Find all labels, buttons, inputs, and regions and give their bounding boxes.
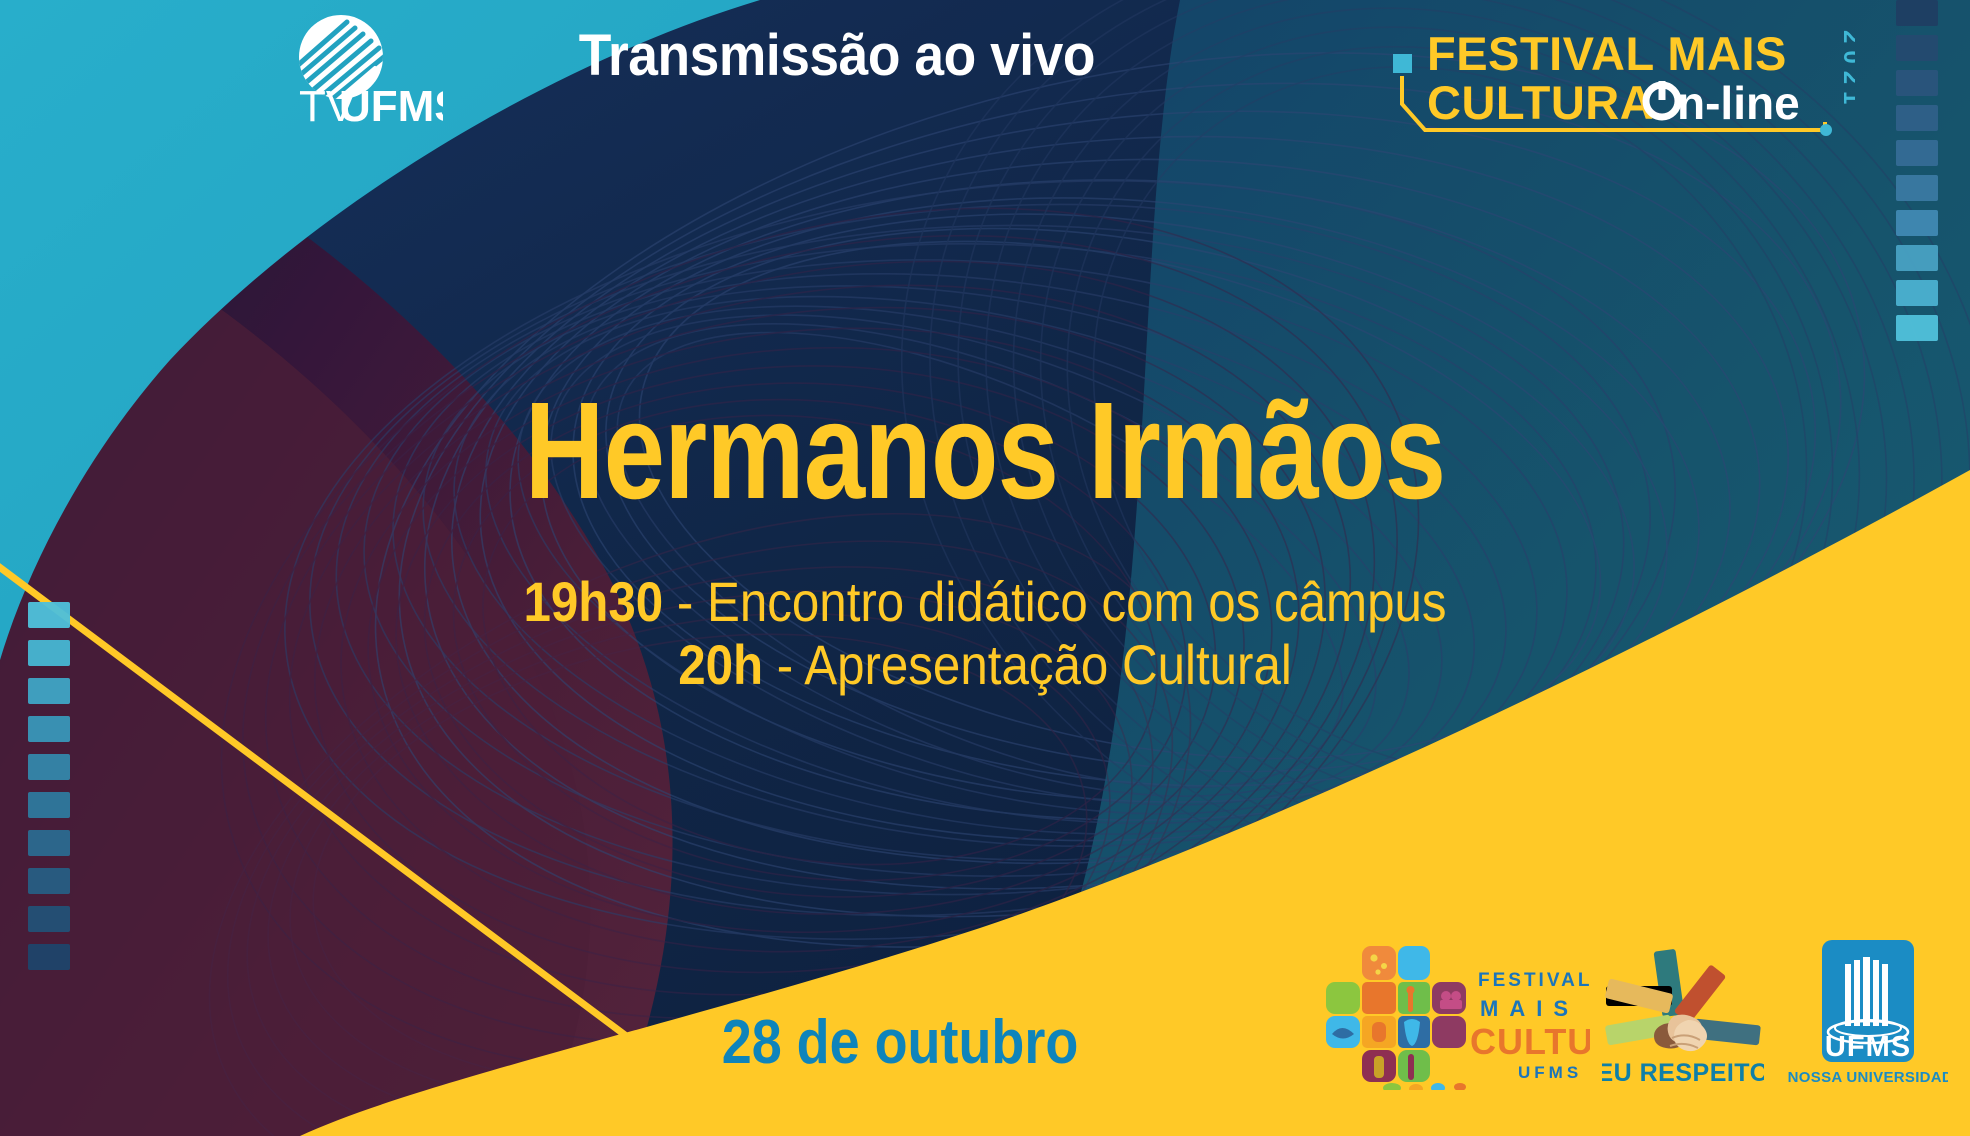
eu-respeito-logo: EU RESPEITO	[1602, 938, 1764, 1090]
joined-hands-icon	[1605, 949, 1761, 1051]
poster-foreground: TV UFMS Transmissão ao vivo FESTIVAL MAI…	[0, 0, 1970, 1136]
lockup-year: 2021	[1838, 30, 1855, 111]
ufms-tagline: A NOSSA UNIVERSIDADE	[1788, 1069, 1948, 1086]
ufms-acronym: UFMS	[1825, 1031, 1911, 1063]
lockup-line2: CULTURA	[1427, 76, 1654, 129]
event-date: 28 de outubro	[656, 1012, 1143, 1074]
poster-canvas: TV UFMS Transmissão ao vivo FESTIVAL MAI…	[0, 0, 1970, 1136]
festival-mais-cultura-plus-icon	[1326, 946, 1466, 1090]
event-title: Hermanos Irmãos	[197, 382, 1773, 520]
eu-respeito-label: EU RESPEITO	[1602, 1059, 1764, 1087]
fmc-word-festival: FESTIVAL	[1478, 970, 1590, 991]
ufms-institutional-logo: UFMS A NOSSA UNIVERSIDADE	[1788, 938, 1948, 1090]
schedule-separator: -	[663, 570, 707, 633]
lockup-cyan-square	[1393, 54, 1412, 73]
fmc-word-mais: MAIS	[1480, 996, 1579, 1021]
fmc-word-cultura: CULTURA	[1470, 1021, 1590, 1062]
schedule-description: Encontro didático com os câmpus	[707, 570, 1447, 633]
tv-ufms-label-bold: UFMS	[339, 82, 443, 129]
fmc-word-ufms: UFMS	[1518, 1063, 1582, 1082]
tv-ufms-logo: TV UFMS	[243, 14, 443, 129]
schedule-item: 20h - Apresentação Cultural	[118, 634, 1852, 697]
festival-mais-cultura-online-lockup: FESTIVAL MAIS CULTURA n-line 2021	[1385, 18, 1855, 136]
schedule-time: 20h	[678, 633, 763, 696]
lockup-cyan-dot	[1820, 124, 1832, 136]
festival-mais-cultura-ufms-logo: FESTIVAL MAIS CULTURA UFMS	[1320, 938, 1590, 1090]
live-broadcast-headline: Transmissão ao vivo	[579, 26, 1011, 87]
lockup-online-text: n-line	[1677, 77, 1800, 129]
schedule-time: 19h30	[523, 570, 663, 633]
lockup-line1: FESTIVAL MAIS	[1427, 27, 1787, 80]
schedule-description: Apresentação Cultural	[804, 633, 1292, 696]
partner-logo-strip: FESTIVAL MAIS CULTURA UFMS	[1320, 938, 1960, 1090]
schedule-separator: -	[763, 633, 804, 696]
schedule-list: 19h30 - Encontro didático com os câmpus …	[0, 571, 1970, 696]
schedule-item: 19h30 - Encontro didático com os câmpus	[118, 571, 1852, 634]
